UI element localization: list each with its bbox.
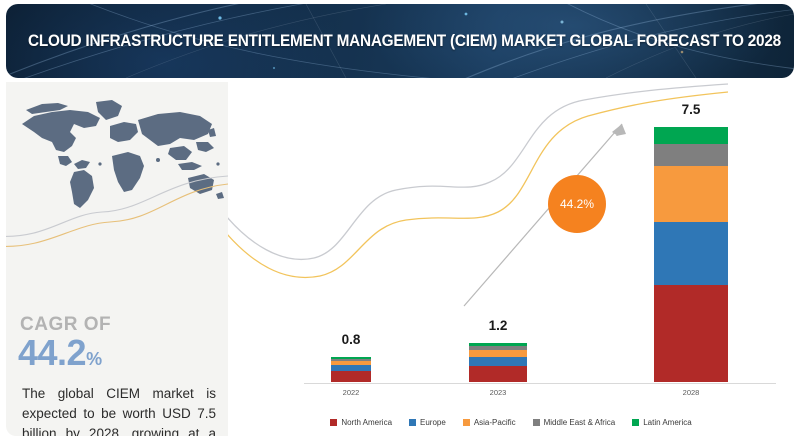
legend-swatch-icon	[330, 419, 337, 426]
cagr-number: 44.2	[18, 332, 86, 373]
legend-swatch-icon	[632, 419, 639, 426]
cagr-value: 44.2%	[18, 332, 102, 374]
legend-label: North America	[341, 418, 392, 427]
legend-item-europe[interactable]: Europe	[409, 418, 446, 427]
bar-value-label-2028: 7.5	[639, 102, 743, 117]
legend-item-middle-east-africa[interactable]: Middle East & Africa	[533, 418, 616, 427]
legend-label: Asia-Pacific	[474, 418, 516, 427]
bar-2023[interactable]	[468, 342, 528, 383]
bar-segment-latin-america[interactable]	[654, 127, 728, 144]
bar-plot: 0.820221.220237.52028	[228, 82, 794, 436]
bar-segment-north-america[interactable]	[331, 371, 371, 382]
infographic-page: CLOUD INFRASTRUCTURE ENTITLEMENT MANAGEM…	[0, 0, 800, 440]
x-axis-tick-2023: 2023	[448, 388, 548, 397]
legend-label: Latin America	[643, 418, 691, 427]
sidebar-curve-decoration	[6, 174, 228, 254]
bar-segment-middle-east-africa[interactable]	[654, 144, 728, 166]
bar-value-label-2022: 0.8	[316, 332, 386, 347]
legend-item-north-america[interactable]: North America	[330, 418, 392, 427]
bar-2022[interactable]	[330, 356, 372, 383]
legend-swatch-icon	[463, 419, 470, 426]
bar-2028[interactable]	[653, 126, 729, 383]
sidebar-panel: CAGR OF 44.2% The global CIEM market is …	[6, 82, 228, 436]
legend-swatch-icon	[409, 419, 416, 426]
legend-item-latin-america[interactable]: Latin America	[632, 418, 691, 427]
page-title: CLOUD INFRASTRUCTURE ENTITLEMENT MANAGEM…	[28, 4, 781, 78]
chart-panel: 44.2% 0.820221.220237.52028	[228, 82, 794, 436]
x-axis-tick-2028: 2028	[633, 388, 749, 397]
legend-label: Middle East & Africa	[544, 418, 616, 427]
bar-segment-asia-pacific[interactable]	[654, 166, 728, 222]
cagr-percent-sign: %	[86, 349, 102, 369]
chart-legend[interactable]: North AmericaEuropeAsia-PacificMiddle Ea…	[228, 414, 794, 430]
legend-swatch-icon	[533, 419, 540, 426]
bar-segment-europe[interactable]	[654, 222, 728, 285]
bar-segment-asia-pacific[interactable]	[469, 350, 527, 357]
bar-segment-europe[interactable]	[469, 357, 527, 366]
description-text: The global CIEM market is expected to be…	[22, 384, 216, 436]
x-axis-tick-2022: 2022	[310, 388, 392, 397]
bar-segment-north-america[interactable]	[469, 366, 527, 382]
bar-segment-north-america[interactable]	[654, 285, 728, 382]
header-banner: CLOUD INFRASTRUCTURE ENTITLEMENT MANAGEM…	[6, 4, 794, 78]
legend-label: Europe	[420, 418, 446, 427]
legend-item-asia-pacific[interactable]: Asia-Pacific	[463, 418, 516, 427]
bar-value-label-2023: 1.2	[454, 318, 542, 333]
